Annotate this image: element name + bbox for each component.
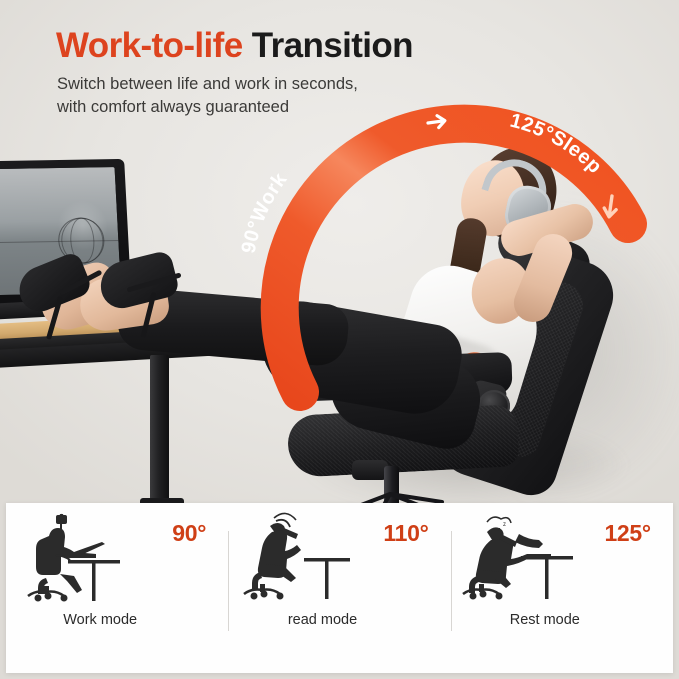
mode-label-read: read mode [288, 612, 357, 628]
mode-figure-read: 110° [234, 512, 444, 610]
person-reading-reclined-icon [244, 513, 350, 599]
mode-figure-rest: z z 125° [457, 512, 667, 610]
subtitle-line-2: with comfort always guaranteed [57, 96, 358, 119]
mode-comparison-card: 90° Work mode [6, 503, 673, 673]
mode-panel-rest[interactable]: z z 125° Rest mode [451, 503, 673, 673]
mode-panel-read[interactable]: 110° read mode [228, 503, 450, 673]
mode-angle-rest: 125° [604, 520, 650, 547]
svg-text:z: z [497, 527, 501, 534]
mode-label-work: Work mode [63, 612, 137, 628]
mode-angle-read: 110° [383, 520, 428, 547]
page-subtitle: Switch between life and work in seconds,… [57, 73, 358, 119]
title-rest: Transition [243, 26, 413, 65]
title-accent: Work-to-life [56, 26, 243, 65]
mode-figure-work: 90° [12, 512, 222, 610]
mode-angle-work: 90° [172, 520, 206, 547]
page-title: Work-to-life Transition [56, 26, 413, 66]
subtitle-line-1: Switch between life and work in seconds, [57, 73, 358, 96]
mode-label-rest: Rest mode [510, 612, 580, 628]
svg-text:z: z [503, 522, 506, 528]
person-sleeping-reclined-icon: z z [463, 517, 573, 599]
person-working-at-desk-icon [28, 515, 120, 602]
mode-panel-work[interactable]: 90° Work mode [6, 503, 228, 673]
